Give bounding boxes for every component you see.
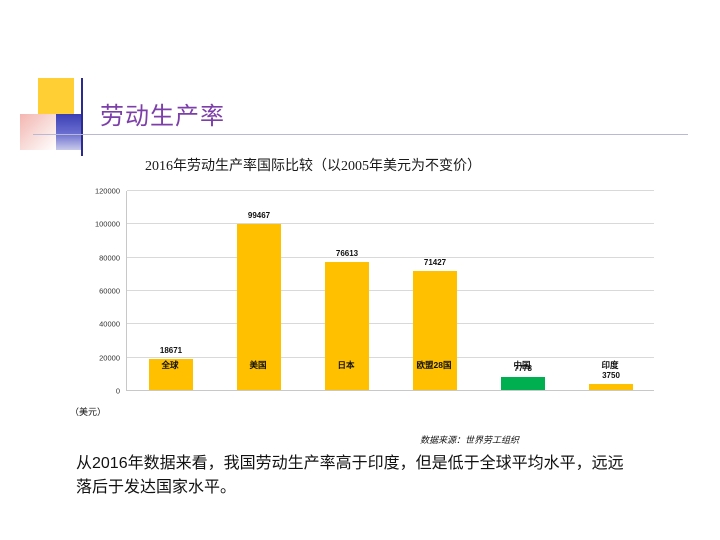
logo-square-blue (56, 114, 82, 150)
x-axis-tick-label: 美国 (249, 359, 266, 371)
x-axis-labels: 全球美国日本欧盟28国中国印度 (126, 359, 654, 375)
y-axis-tick-label: 100000 (95, 220, 120, 229)
chart-source-note: 数据来源：世界劳工组织 (420, 433, 519, 446)
x-axis-tick-label: 中国 (513, 359, 530, 371)
y-axis-tick-label: 20000 (99, 353, 120, 362)
gridline (127, 290, 654, 291)
page-title: 劳动生产率 (100, 96, 225, 131)
logo-vertical-rule (81, 78, 83, 156)
x-axis-tick-label: 印度 (601, 359, 618, 371)
y-axis-tick-label: 0 (116, 387, 120, 396)
axis-unit-note: （美元） (70, 405, 106, 418)
bar (501, 377, 545, 390)
bar-value-label: 76613 (336, 249, 358, 258)
slide-body-text: 从2016年数据来看，我国劳动生产率高于印度，但是低于全球平均水平，远远落后于发… (76, 452, 636, 500)
decorative-logo (20, 78, 100, 158)
x-axis-tick-label: 日本 (337, 359, 354, 371)
logo-square-yellow (38, 78, 74, 114)
gridline (127, 190, 654, 191)
bar (589, 384, 633, 390)
y-axis-tick-label: 40000 (99, 320, 120, 329)
gridline (127, 257, 654, 258)
chart-title: 2016年劳动生产率国际比较（以2005年美元为不变价） (145, 155, 481, 175)
gridline (127, 323, 654, 324)
chart-container: 2016年劳动生产率国际比较（以2005年美元为不变价） 02000040000… (60, 155, 660, 445)
x-axis-tick-label: 欧盟28国 (417, 359, 452, 371)
y-axis-tick-label: 120000 (95, 187, 120, 196)
bar-value-label: 71427 (424, 258, 446, 267)
gridline (127, 357, 654, 358)
logo-square-gradient (20, 114, 56, 150)
title-divider (33, 134, 688, 135)
bar-value-label: 18671 (160, 346, 182, 355)
y-axis-labels: 020000400006000080000100000120000 (60, 191, 126, 391)
gridline (127, 223, 654, 224)
y-axis-tick-label: 60000 (99, 287, 120, 296)
bar-value-label: 99467 (248, 211, 270, 220)
y-axis-tick-label: 80000 (99, 253, 120, 262)
x-axis-tick-label: 全球 (161, 359, 178, 371)
